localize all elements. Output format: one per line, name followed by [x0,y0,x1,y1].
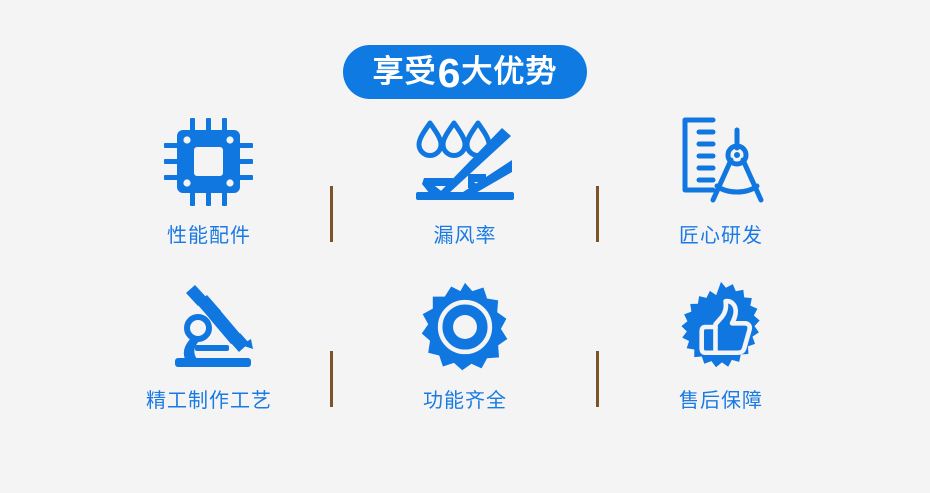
feature-item-5[interactable]: 功能齐全 [337,277,593,442]
row-divider-1-right [596,186,599,242]
microscope-icon [161,277,257,377]
feature-item-4[interactable]: 精工制作工艺 [81,277,337,442]
water-droplets-leak-icon [412,112,518,212]
feature-highlights-page: 享受6大优势 [0,0,930,493]
badge-suffix-text: 大优势 [461,56,557,87]
feature-item-1[interactable]: 性能配件 [81,112,337,277]
feature-grid: 性能配件 [0,112,930,442]
thumbs-up-badge-icon [675,277,767,377]
feature-item-2[interactable]: 漏风率 [337,112,593,277]
feature-item-3[interactable]: 匠心研发 [593,112,849,277]
ruler-compass-icon [675,112,767,212]
row-divider-2-right [596,351,599,407]
gear-icon [419,277,511,377]
feature-label-4: 精工制作工艺 [146,391,272,411]
badge-prefix-text: 享受 [373,56,437,87]
feature-row-2: 精工制作工艺 功能齐全 [0,277,930,442]
feature-label-2: 漏风率 [434,226,497,246]
badge-number-text: 6 [438,53,461,94]
feature-label-3: 匠心研发 [679,226,763,246]
row-divider-1-left [330,186,333,242]
header-badge-container: 享受6大优势 [0,45,930,99]
feature-row-1: 性能配件 [0,112,930,277]
cpu-chip-icon [161,112,257,212]
feature-label-5: 功能齐全 [423,391,507,411]
feature-label-1: 性能配件 [167,226,251,246]
feature-item-6[interactable]: 售后保障 [593,277,849,442]
feature-label-6: 售后保障 [679,391,763,411]
row-divider-2-left [330,351,333,407]
header-badge: 享受6大优势 [343,45,588,99]
